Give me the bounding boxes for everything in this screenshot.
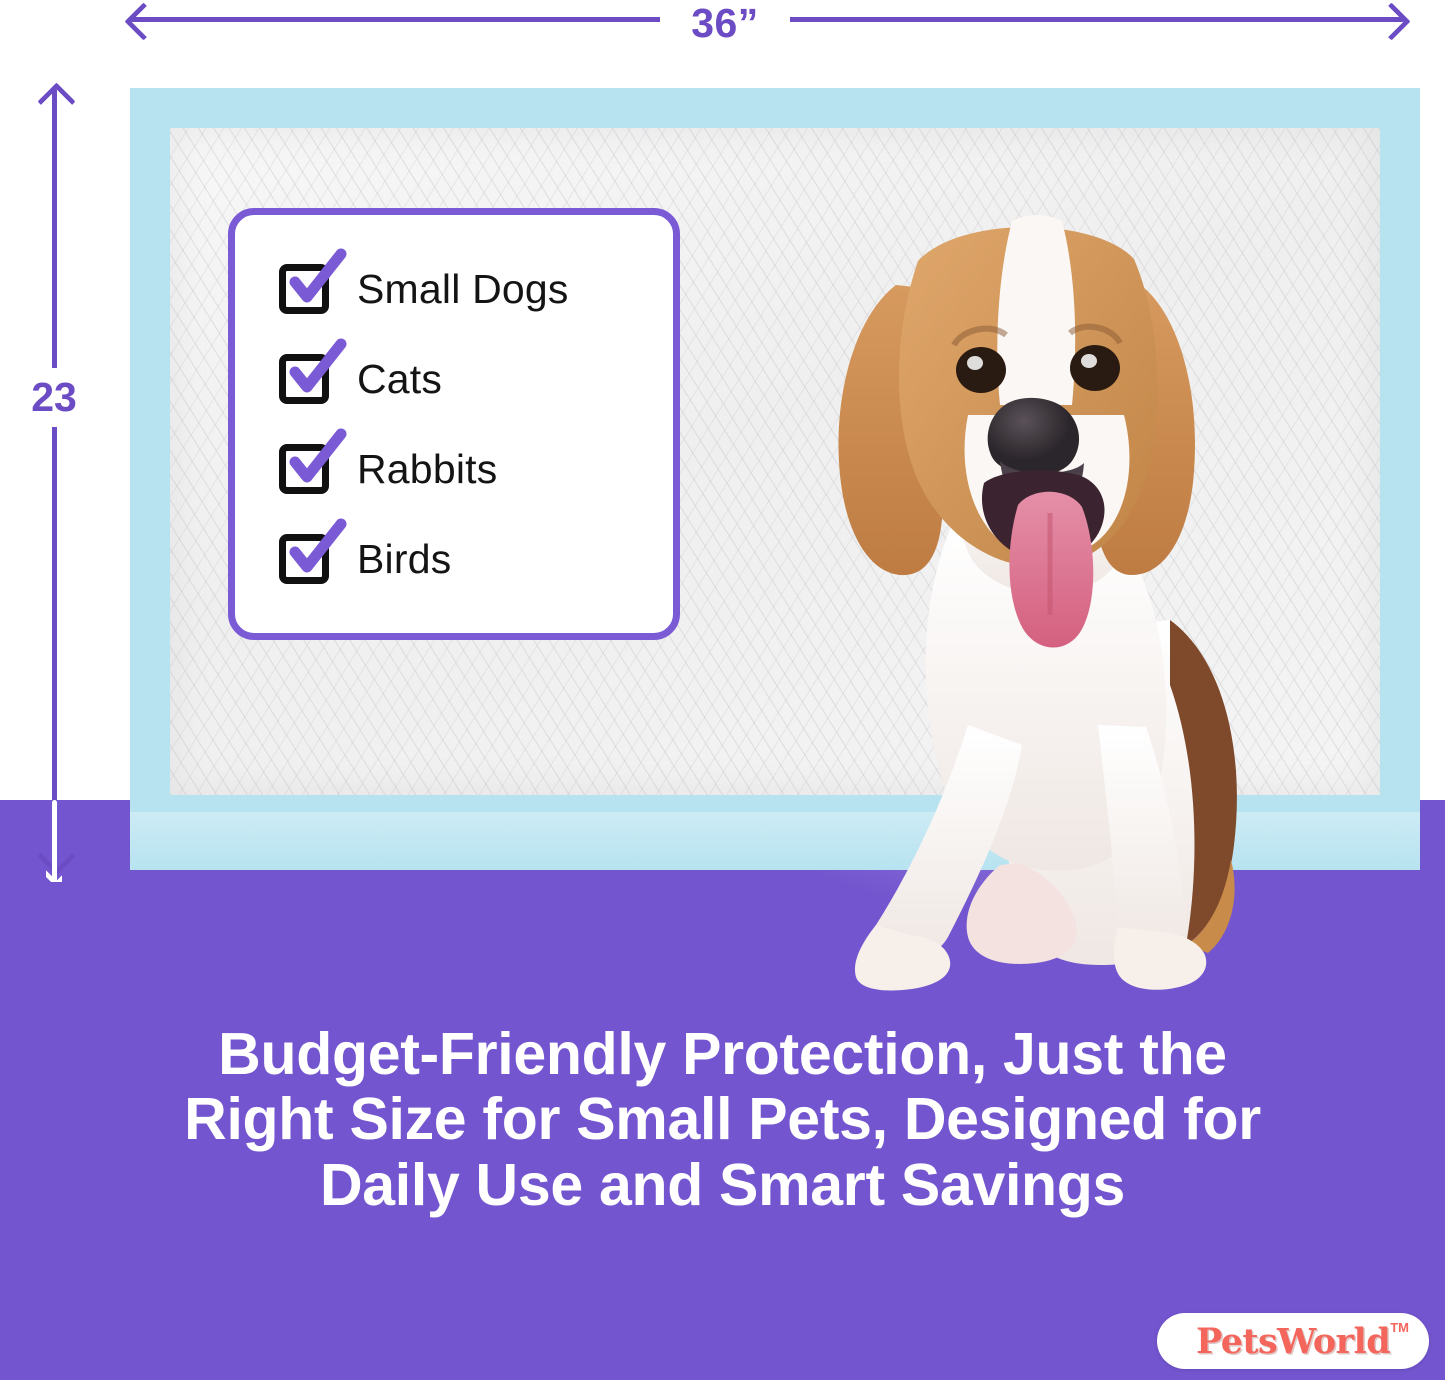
list-item: Birds bbox=[279, 514, 673, 604]
headline-line-1: Budget-Friendly Protection, Just the bbox=[60, 1022, 1385, 1087]
arrow-head-right-icon bbox=[1372, 2, 1410, 40]
headline-line-2: Right Size for Small Pets, Designed for bbox=[60, 1087, 1385, 1152]
height-dimension-arrow bbox=[46, 88, 62, 870]
brand-logo: PetsWorld TM bbox=[1157, 1313, 1429, 1369]
list-item: Cats bbox=[279, 334, 673, 424]
height-label: 23 bbox=[8, 368, 100, 427]
trademark-symbol: TM bbox=[1390, 1320, 1409, 1335]
list-item-label: Cats bbox=[357, 356, 442, 403]
width-label: 36” bbox=[660, 0, 790, 47]
list-item-label: Small Dogs bbox=[357, 266, 569, 313]
arrow-head-up-icon bbox=[37, 82, 75, 120]
checked-checkbox-icon bbox=[279, 354, 329, 404]
list-item-label: Birds bbox=[357, 536, 451, 583]
arrow-head-left-icon bbox=[124, 2, 162, 40]
checked-checkbox-icon bbox=[279, 444, 329, 494]
dimension-line bbox=[52, 88, 57, 870]
checked-checkbox-icon bbox=[279, 534, 329, 584]
list-item-label: Rabbits bbox=[357, 446, 497, 493]
checked-checkbox-icon bbox=[279, 264, 329, 314]
beagle-dog-photo bbox=[700, 165, 1300, 995]
suitable-pets-checklist: Small Dogs Cats Rabbits Birds bbox=[228, 208, 680, 640]
list-item: Rabbits bbox=[279, 424, 673, 514]
height-dimension-arrow-on-purple bbox=[46, 800, 62, 882]
product-infographic: 36” 23 Small Dogs Cats bbox=[0, 0, 1445, 1380]
headline-line-3: Daily Use and Smart Savings bbox=[60, 1153, 1385, 1218]
page-title: Budget-Friendly Protection, Just the Rig… bbox=[60, 1022, 1385, 1218]
arrow-head-down-icon bbox=[46, 849, 62, 882]
list-item: Small Dogs bbox=[279, 244, 673, 334]
brand-name: PetsWorld bbox=[1196, 1321, 1390, 1362]
